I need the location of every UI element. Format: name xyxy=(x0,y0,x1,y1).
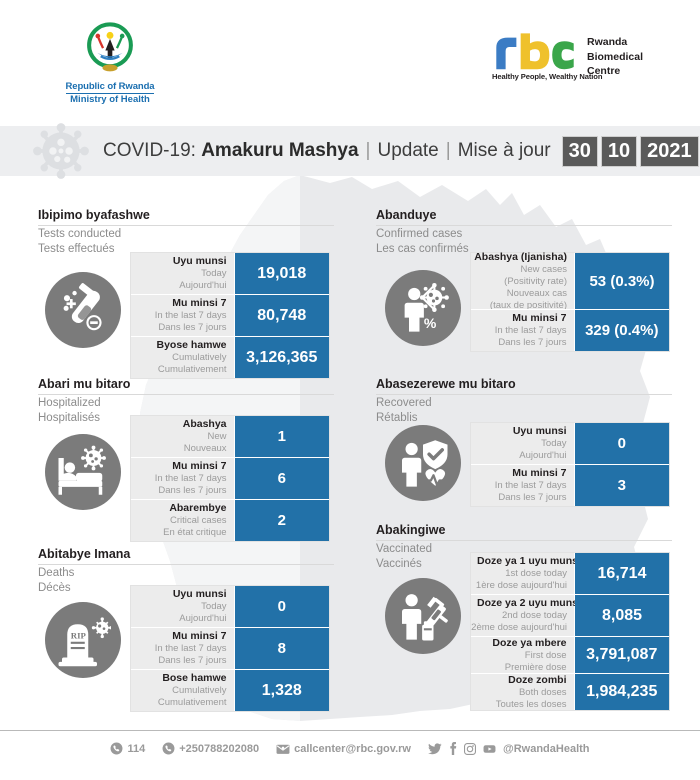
section-vaccinated-rule xyxy=(376,540,672,541)
table-row: Doze zombi Both doses Toutes les doses 1… xyxy=(471,673,669,710)
rbc-tagline: Healthy People, Wealthy Nation xyxy=(492,72,578,81)
youtube-icon[interactable] xyxy=(483,743,496,755)
row-value: 6 xyxy=(235,458,329,499)
table-row: Abashya (Ijanisha) New cases (Positivity… xyxy=(471,253,669,309)
phone-long-label: +250788202080 xyxy=(179,743,259,755)
phone-icon xyxy=(110,742,123,755)
section-vaccinated-subtitle-en: Vaccinated xyxy=(376,542,676,557)
row-label-en: Both doses xyxy=(519,687,567,699)
row-label-rw: Bose hamwe xyxy=(162,672,226,685)
title-english: Update xyxy=(377,140,438,162)
row-label-rw: Mu minsi 7 xyxy=(172,630,226,643)
moh-label-country: Republic of Rwanda xyxy=(66,81,155,94)
row-label-fr: Dans les 7 jours xyxy=(498,492,566,504)
section-hospitalized-title: Abari mu bitaro xyxy=(38,377,338,392)
svg-text:RIP: RIP xyxy=(71,630,87,640)
row-label-fr: Dans les 7 jours xyxy=(158,655,226,667)
row-label-rw: Doze zombi xyxy=(508,674,566,687)
row-value: 3 xyxy=(575,465,669,506)
phone-long-item[interactable]: +250788202080 xyxy=(162,742,259,755)
hospitalized-stat-table: Abashya New Nouveaux 1 Mu minsi 7 In the… xyxy=(130,415,330,542)
row-label-en: Today xyxy=(201,268,226,280)
row-value: 2 xyxy=(235,500,329,541)
table-row: Mu minsi 7 In the last 7 days Dans les 7… xyxy=(471,309,669,351)
section-confirmed: Abanduye Confirmed cases Les cas confirm… xyxy=(376,208,676,256)
table-row: Mu minsi 7 In the last 7 days Dans les 7… xyxy=(131,294,329,336)
section-recovered-subtitle-en: Recovered xyxy=(376,396,676,411)
row-label-en: Critical cases xyxy=(170,515,227,527)
rwanda-coat-of-arms-icon xyxy=(81,18,139,76)
footer-contact-bar: 114 +250788202080 callcenter@rbc.gov.rw xyxy=(0,742,700,755)
table-row: Byose hamwe Cumulatively Cumulativement … xyxy=(131,336,329,378)
deaths-stat-table: Uyu munsi Today Aujourd'hui 0 Mu minsi 7… xyxy=(130,585,330,712)
section-tests-subtitle-en: Tests conducted xyxy=(38,227,338,242)
row-label-fr: Aujourd'hui xyxy=(179,613,226,625)
title-prefix: COVID-19: xyxy=(103,140,196,162)
row-value: 53 (0.3%) xyxy=(575,253,669,309)
table-row: Mu minsi 7 In the last 7 days Dans les 7… xyxy=(471,464,669,506)
rbc-name-line3: Centre xyxy=(587,64,643,79)
row-label-en: In the last 7 days xyxy=(155,643,227,655)
row-value: 1,984,235 xyxy=(575,674,669,710)
row-label-rw: Uyu munsi xyxy=(513,425,567,438)
row-label-fr: Aujourd'hui xyxy=(179,280,226,292)
row-label-fr: 2ème dose aujourd'hui xyxy=(471,622,567,634)
logo-bar: Republic of Rwanda Ministry of Health He… xyxy=(0,0,700,122)
row-label-fr: Dans les 7 jours xyxy=(158,322,226,334)
row-label-en: New xyxy=(208,431,227,443)
section-deaths-rule xyxy=(38,564,334,565)
section-vaccinated-title: Abakingiwe xyxy=(376,523,676,538)
section-deaths-subtitle-en: Deaths xyxy=(38,566,338,581)
row-label-en: In the last 7 days xyxy=(495,325,567,337)
facebook-icon[interactable] xyxy=(449,742,457,755)
moh-label-ministry: Ministry of Health xyxy=(60,94,160,106)
row-label-en: Today xyxy=(201,601,226,613)
row-label-rw: Byose hamwe xyxy=(156,339,226,352)
rbc-logo-mark: Healthy People, Wealthy Nation xyxy=(492,33,578,81)
section-hospitalized-subtitle-en: Hospitalized xyxy=(38,396,338,411)
row-label-rw: Abarembye xyxy=(169,502,226,515)
section-recovered: Abasezerewe mu bitaro Recovered Rétablis xyxy=(376,377,676,425)
section-vaccinated-subtitle-fr: Vaccinés xyxy=(376,557,676,572)
phone-short-label: 114 xyxy=(127,743,145,755)
section-hospitalized: Abari mu bitaro Hospitalized Hospitalisé… xyxy=(38,377,338,425)
table-row: Doze ya 2 uyu munsi 2nd dose today 2ème … xyxy=(471,594,669,636)
person-syringe-icon xyxy=(385,578,461,654)
table-row: Bose hamwe Cumulatively Cumulativement 1… xyxy=(131,669,329,711)
table-row: Abarembye Critical cases En état critiqu… xyxy=(131,499,329,541)
recovered-stat-table: Uyu munsi Today Aujourd'hui 0 Mu minsi 7… xyxy=(470,422,670,507)
row-label-fr: Cumulativement xyxy=(158,364,227,376)
date-year: 2021 xyxy=(640,136,699,167)
row-label-fr: Dans les 7 jours xyxy=(498,337,566,349)
email-label: callcenter@rbc.gov.rw xyxy=(294,743,411,755)
row-value: 80,748 xyxy=(235,295,329,336)
hospital-bed-icon xyxy=(45,434,121,510)
row-value: 8 xyxy=(235,628,329,669)
section-deaths-subtitle-fr: Décès xyxy=(38,581,338,596)
rbc-name-line2: Biomedical xyxy=(587,50,643,65)
rbc-name-line1: Rwanda xyxy=(587,35,643,50)
section-confirmed-title: Abanduye xyxy=(376,208,676,223)
social-handle[interactable]: @RwandaHealth xyxy=(503,743,590,755)
test-tube-icon xyxy=(45,272,121,348)
row-label-fr: Première dose xyxy=(505,662,567,674)
email-icon xyxy=(276,743,290,755)
table-row: Mu minsi 7 In the last 7 days Dans les 7… xyxy=(131,627,329,669)
row-label-en: In the last 7 days xyxy=(155,473,227,485)
section-tests: Ibipimo byafashwe Tests conducted Tests … xyxy=(38,208,338,256)
title-row: COVID-19: Amakuru Mashya | Update | Mise… xyxy=(103,126,699,176)
tests-stat-table: Uyu munsi Today Aujourd'hui 19,018 Mu mi… xyxy=(130,252,330,379)
table-row: Doze ya mbere First dose Première dose 3… xyxy=(471,636,669,673)
vaccinated-stat-table: Doze ya 1 uyu munsi 1st dose today 1ère … xyxy=(470,552,670,711)
table-row: Uyu munsi Today Aujourd'hui 19,018 xyxy=(131,253,329,294)
table-row: Uyu munsi Today Aujourd'hui 0 xyxy=(471,423,669,464)
rbc-name-block: Rwanda Biomedical Centre xyxy=(587,35,643,79)
rbc-logo: Healthy People, Wealthy Nation Rwanda Bi… xyxy=(492,33,643,81)
title-main: Amakuru Mashya xyxy=(201,140,358,162)
title-band: COVID-19: Amakuru Mashya | Update | Mise… xyxy=(0,126,700,176)
row-label-fr: En état critique xyxy=(163,527,226,539)
section-tests-subtitle-fr: Tests effectués xyxy=(38,242,338,257)
section-tests-title: Ibipimo byafashwe xyxy=(38,208,338,223)
row-label-en: Today xyxy=(541,438,566,450)
row-label-fr: Nouveaux cas xyxy=(507,288,567,300)
row-value: 0 xyxy=(575,423,669,464)
svg-text:%: % xyxy=(424,315,437,331)
row-value: 329 (0.4%) xyxy=(575,310,669,351)
section-recovered-rule xyxy=(376,394,672,395)
rbc-letters-icon xyxy=(492,33,578,71)
row-label-fr: 1ère dose aujourd'hui xyxy=(476,580,567,592)
date-day: 30 xyxy=(562,136,598,167)
row-label-rw: Mu minsi 7 xyxy=(512,467,566,480)
email-item[interactable]: callcenter@rbc.gov.rw xyxy=(276,743,411,755)
row-value: 3,126,365 xyxy=(235,337,329,378)
phone-short-item[interactable]: 114 xyxy=(110,742,145,755)
row-value: 3,791,087 xyxy=(575,637,669,673)
section-recovered-title: Abasezerewe mu bitaro xyxy=(376,377,676,392)
row-label-en: New cases xyxy=(521,264,567,276)
row-label-en: 2nd dose today xyxy=(502,610,567,622)
update-date: 30 10 2021 xyxy=(562,136,699,167)
section-confirmed-subtitle-fr: Les cas confirmés xyxy=(376,242,676,257)
phone-icon xyxy=(162,742,175,755)
row-label-en: First dose xyxy=(525,650,567,662)
title-french: Mise à jour xyxy=(458,140,551,162)
section-deaths-title: Abitabye Imana xyxy=(38,547,338,562)
row-label-fr: Nouveaux xyxy=(184,443,227,455)
title-separator-1: | xyxy=(359,140,378,162)
row-label-rw: Uyu munsi xyxy=(173,255,227,268)
infographic-page: Republic of Rwanda Ministry of Health He… xyxy=(0,0,700,780)
row-label-fr: Cumulativement xyxy=(158,697,227,709)
table-row: Mu minsi 7 In the last 7 days Dans les 7… xyxy=(131,457,329,499)
row-label-fr: Aujourd'hui xyxy=(519,450,566,462)
row-label-rw: Doze ya 2 uyu munsi xyxy=(477,597,581,610)
section-confirmed-rule xyxy=(376,225,672,226)
section-hospitalized-rule xyxy=(38,394,334,395)
row-label-fr: Toutes les doses xyxy=(496,699,567,711)
row-value: 1,328 xyxy=(235,670,329,711)
section-tests-rule xyxy=(38,225,334,226)
section-vaccinated: Abakingiwe Vaccinated Vaccinés xyxy=(376,523,676,571)
section-deaths: Abitabye Imana Deaths Décès xyxy=(38,547,338,595)
row-label-fr: Dans les 7 jours xyxy=(158,485,226,497)
twitter-icon[interactable] xyxy=(428,743,442,755)
instagram-icon[interactable] xyxy=(464,743,476,755)
row-value: 19,018 xyxy=(235,253,329,294)
person-virus-percent-icon: % xyxy=(385,270,461,346)
footer-divider xyxy=(0,730,700,731)
row-label-en: In the last 7 days xyxy=(495,480,567,492)
confirmed-stat-table: Abashya (Ijanisha) New cases (Positivity… xyxy=(470,252,670,352)
row-label-en: Cumulatively xyxy=(172,685,226,697)
section-hospitalized-subtitle-fr: Hospitalisés xyxy=(38,411,338,426)
row-value: 8,085 xyxy=(575,595,669,636)
social-links: @RwandaHealth xyxy=(428,742,590,755)
row-label-en-2: (Positivity rate) xyxy=(504,276,567,288)
section-recovered-subtitle-fr: Rétablis xyxy=(376,411,676,426)
section-confirmed-subtitle-en: Confirmed cases xyxy=(376,227,676,242)
tombstone-icon: RIP xyxy=(45,602,121,678)
row-label-en: In the last 7 days xyxy=(155,310,227,322)
ministry-of-health-logo: Republic of Rwanda Ministry of Health xyxy=(60,18,160,106)
row-label-en: Cumulatively xyxy=(172,352,226,364)
row-label-rw: Mu minsi 7 xyxy=(512,312,566,325)
date-month: 10 xyxy=(601,136,637,167)
row-label-rw: Doze ya mbere xyxy=(492,637,566,650)
coronavirus-icon xyxy=(30,120,92,182)
row-label-rw: Mu minsi 7 xyxy=(172,297,226,310)
title-separator-2: | xyxy=(439,140,458,162)
person-shield-heart-icon xyxy=(385,425,461,501)
row-label-rw: Mu minsi 7 xyxy=(172,460,226,473)
